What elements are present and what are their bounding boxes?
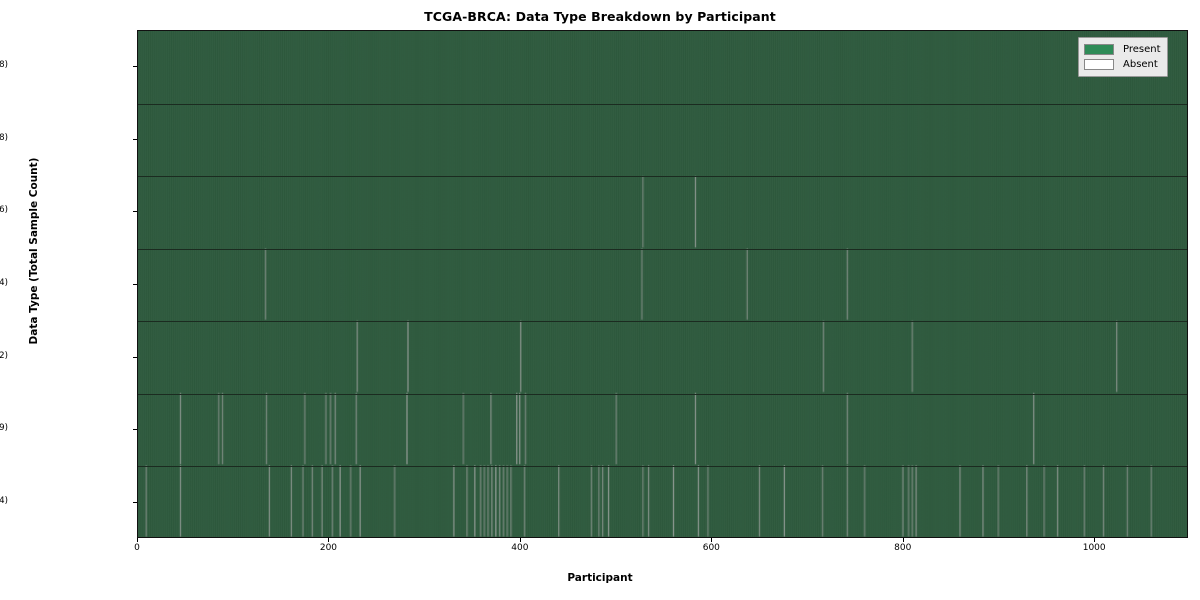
absent-swatch xyxy=(1084,59,1114,70)
x-tick-label: 800 xyxy=(873,543,933,553)
x-tick-mark xyxy=(137,538,138,542)
y-tick-label: miR (1079) xyxy=(0,423,8,433)
x-tick-mark xyxy=(711,538,712,542)
x-tick-label: 400 xyxy=(490,543,550,553)
x-tick-label: 200 xyxy=(298,543,358,553)
x-tick-label: 0 xyxy=(107,543,167,553)
legend-label-present: Present xyxy=(1123,44,1161,55)
heatmap-canvas[interactable] xyxy=(138,31,1187,537)
y-tick-label: Clinical (1096) xyxy=(0,205,8,215)
y-tick-label: CN (1098) xyxy=(0,133,8,143)
legend-item-absent[interactable]: Absent xyxy=(1084,57,1161,72)
chart-title: TCGA-BRCA: Data Type Breakdown by Partic… xyxy=(0,9,1200,24)
heatmap-plot-area[interactable] xyxy=(137,30,1188,538)
y-tick-label: MAF (1044) xyxy=(0,496,8,506)
legend-item-present[interactable]: Present xyxy=(1084,42,1161,57)
y-tick-label: BCR (1098) xyxy=(0,60,8,70)
chart-legend[interactable]: Present Absent xyxy=(1078,37,1168,77)
x-tick-mark xyxy=(328,538,329,542)
y-tick-label: Methylation (1094) xyxy=(0,278,8,288)
x-axis-label: Participant xyxy=(0,572,1200,584)
x-tick-mark xyxy=(1094,538,1095,542)
y-axis-label: Data Type (Total Sample Count) xyxy=(28,121,40,381)
legend-label-absent: Absent xyxy=(1123,59,1158,70)
x-tick-mark xyxy=(520,538,521,542)
x-tick-label: 600 xyxy=(681,543,741,553)
present-swatch xyxy=(1084,44,1114,55)
x-tick-mark xyxy=(903,538,904,542)
x-tick-label: 1000 xyxy=(1064,543,1124,553)
y-tick-label: mRNA (1092) xyxy=(0,351,8,361)
chart-figure: TCGA-BRCA: Data Type Breakdown by Partic… xyxy=(0,0,1200,600)
